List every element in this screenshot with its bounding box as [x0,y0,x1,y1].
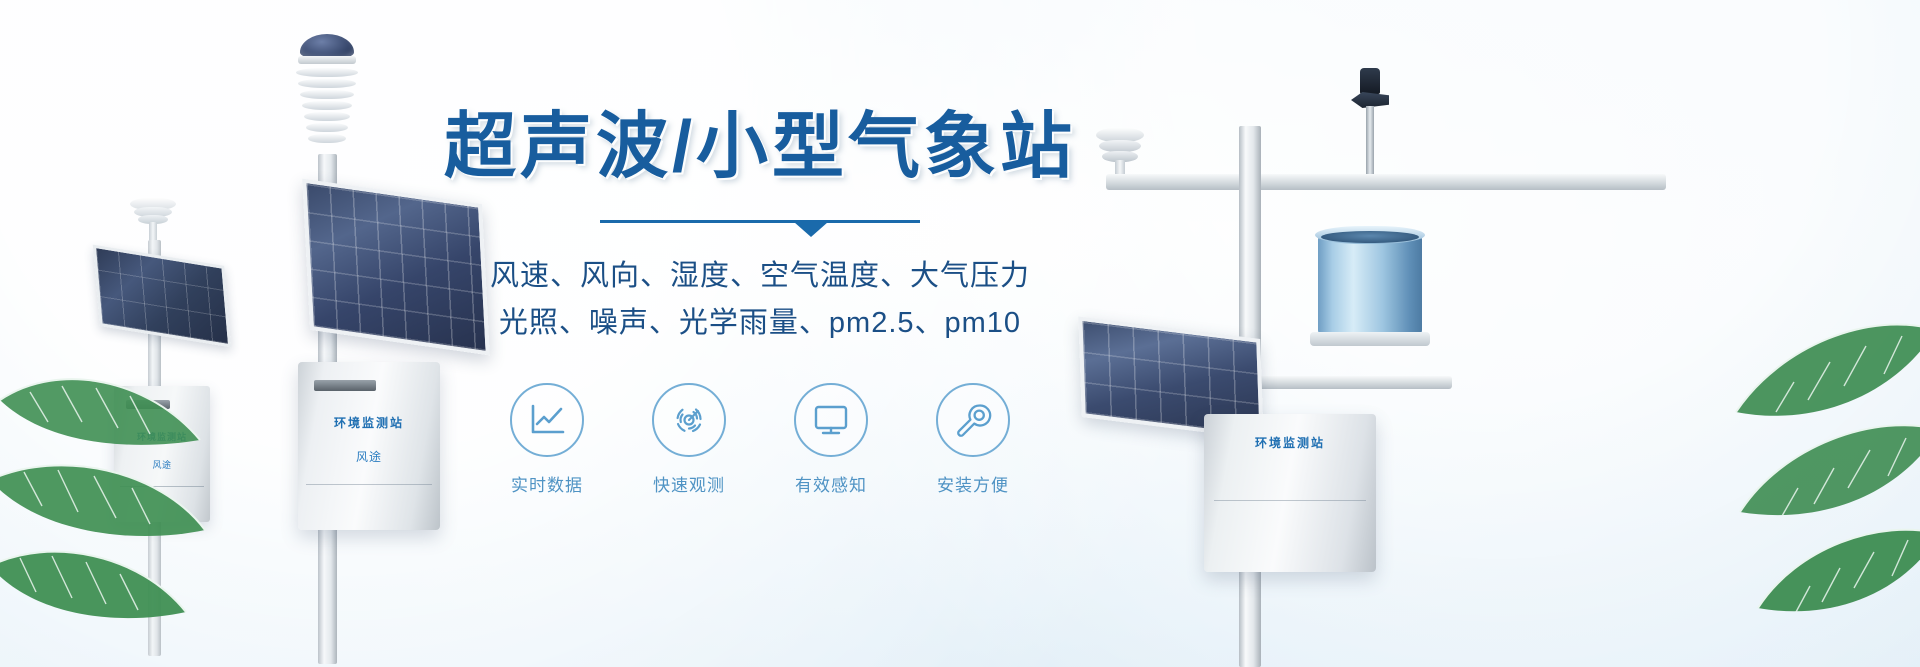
dome-base [298,56,356,64]
radar-sensor-icon [669,400,709,440]
feature-icon-circle [510,383,584,457]
decorative-leaf-right [1640,290,1920,667]
subtitle-line-2: 光照、噪声、光学雨量、pm2.5、pm10 [440,301,1080,346]
cabinet-label: 环境监测站 [298,414,440,431]
feature-item-realtime-data[interactable]: 实时数据 [501,383,593,496]
product-banner: 环境监测站 风途 环境监测站 风途 [0,0,1920,667]
weather-station-right: 环境监测站 [1080,56,1640,667]
sensor-head-icon [122,196,184,238]
feature-label: 实时数据 [501,471,593,496]
feature-icon-circle [652,383,726,457]
radiation-shield-icon [296,68,358,146]
feature-list: 实时数据 [440,383,1080,496]
lower-cross-arm [1256,376,1452,389]
chevron-down-icon [794,222,828,237]
wind-vane-icon [1350,68,1390,180]
page-title: 超声波/小型气象站 [440,110,1080,186]
brand-logo: 风途 [298,448,440,465]
wrench-icon [954,401,992,439]
cross-arm [1106,174,1666,190]
divider [600,220,920,238]
feature-label: 快速观测 [643,471,735,496]
cabinet-seam [1214,500,1366,501]
feature-item-fast-observation[interactable]: 快速观测 [643,383,735,496]
feature-item-easy-install[interactable]: 安装方便 [927,383,1019,496]
cabinet-label: 环境监测站 [1204,434,1376,451]
banner-content: 超声波/小型气象站 风速、风向、湿度、空气温度、大气压力 光照、噪声、光学雨量、… [440,110,1080,496]
feature-icon-circle [794,383,868,457]
subtitle-line-1: 风速、风向、湿度、空气温度、大气压力 [440,254,1080,299]
feature-item-effective-sensing[interactable]: 有效感知 [785,383,877,496]
cabinet-vent-icon [314,380,376,391]
equipment-cabinet: 环境监测站 风途 [298,362,440,530]
divider-bar [600,220,920,223]
line-chart-icon [527,402,567,438]
feature-icon-circle [936,383,1010,457]
equipment-cabinet: 环境监测站 [1204,414,1376,572]
monitor-screen-icon [811,402,851,438]
ultrasonic-anemometer-icon [1092,124,1148,180]
decorative-leaf-left [0,330,250,667]
feature-label: 安装方便 [927,471,1019,496]
cabinet-seam [306,484,432,485]
rain-gauge-icon [1318,224,1422,376]
feature-label: 有效感知 [785,471,877,496]
